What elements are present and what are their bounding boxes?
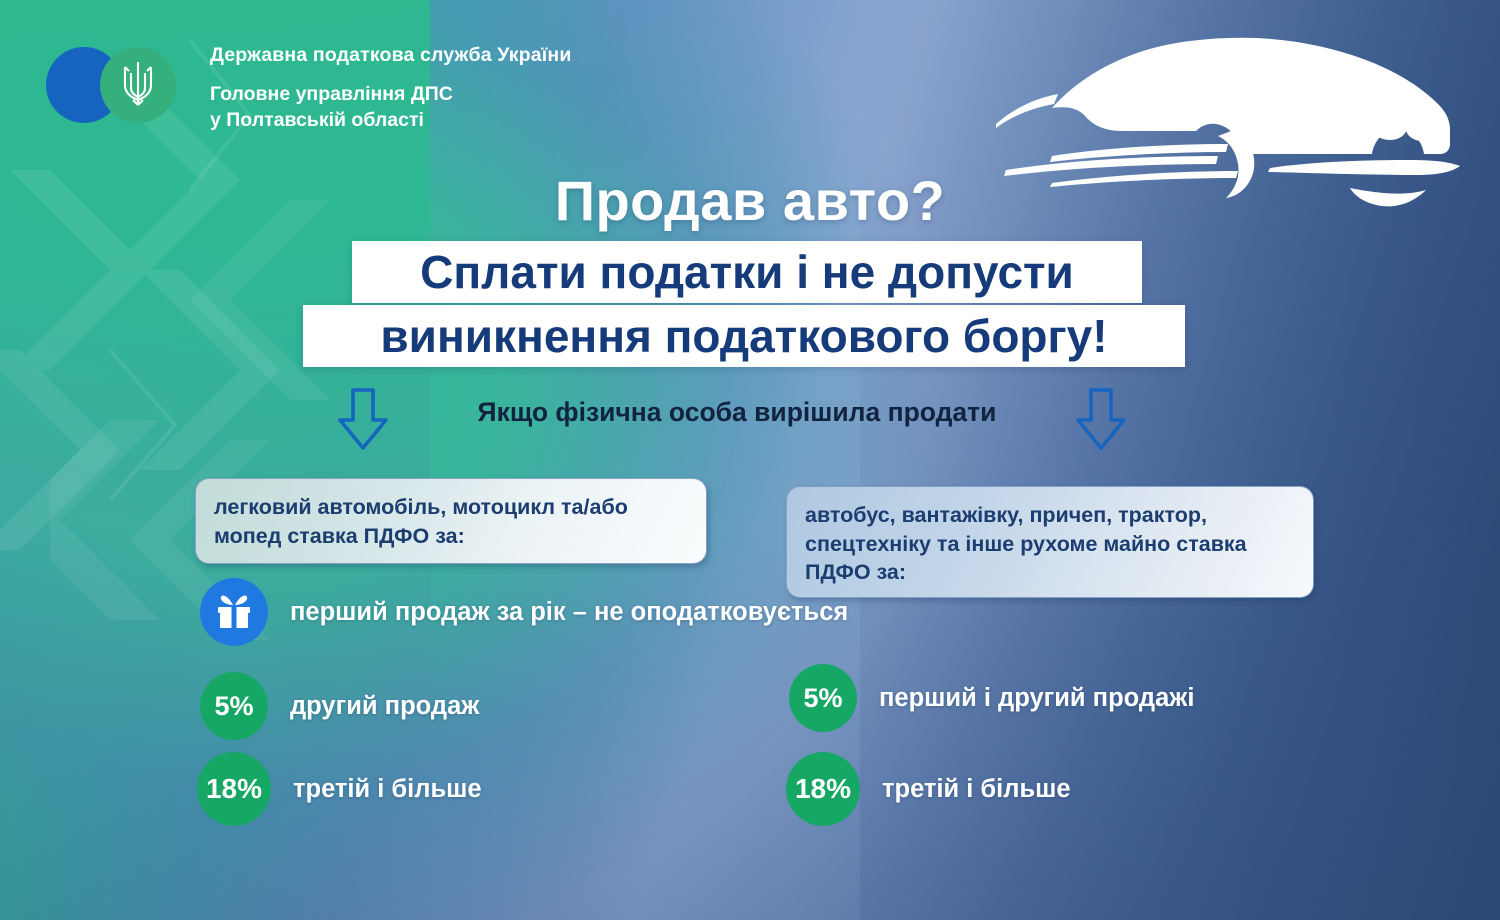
card-right: автобус, вантажівку, причеп, трактор, сп… bbox=[786, 486, 1314, 598]
list-item-label: третій і більше bbox=[882, 773, 1071, 805]
arrow-down-icon-right bbox=[1074, 386, 1128, 452]
org-title-block: Державна податкова служба України Головн… bbox=[210, 43, 730, 134]
list-item: 18% третій і більше bbox=[786, 752, 1071, 826]
org-title-line3: у Полтавській області bbox=[210, 108, 730, 134]
list-item: 18% третій і більше bbox=[197, 752, 482, 826]
gift-badge bbox=[200, 578, 268, 646]
rate-badge: 18% bbox=[786, 752, 860, 826]
subtitle-text: Якщо фізична особа вирішила продати bbox=[402, 383, 1072, 429]
card-left: легковий автомобіль, мотоцикл та/або моп… bbox=[195, 478, 707, 564]
list-item-label: перший і другий продажі bbox=[879, 682, 1194, 714]
headline-line3: виникнення податкового боргу! bbox=[303, 305, 1185, 367]
list-item: 5% перший і другий продажі bbox=[789, 664, 1194, 732]
subtitle-row: Якщо фізична особа вирішила продати bbox=[0, 386, 1500, 456]
list-item: перший продаж за рік – не оподатковуєтьс… bbox=[200, 578, 848, 646]
org-title-line2: Головне управління ДПС bbox=[210, 82, 730, 108]
arrow-down-icon-left bbox=[336, 386, 390, 452]
rate-badge: 18% bbox=[197, 752, 271, 826]
list-item-label: другий продаж bbox=[290, 690, 479, 722]
logo bbox=[46, 47, 196, 123]
infographic-poster: Державна податкова служба України Головн… bbox=[0, 0, 1500, 920]
gift-icon bbox=[214, 592, 254, 632]
trident-icon bbox=[117, 59, 159, 111]
headline-line1: Продав авто? bbox=[0, 168, 1500, 233]
list-item: 5% другий продаж bbox=[200, 672, 479, 740]
org-title-line1: Державна податкова служба України bbox=[210, 43, 730, 67]
list-item-label: третій і більше bbox=[293, 773, 482, 805]
rate-badge: 5% bbox=[200, 672, 268, 740]
rate-badge: 5% bbox=[789, 664, 857, 732]
headline-line2: Сплати податки і не допусти bbox=[352, 241, 1142, 303]
list-item-label: перший продаж за рік – не оподатковуєтьс… bbox=[290, 596, 848, 628]
